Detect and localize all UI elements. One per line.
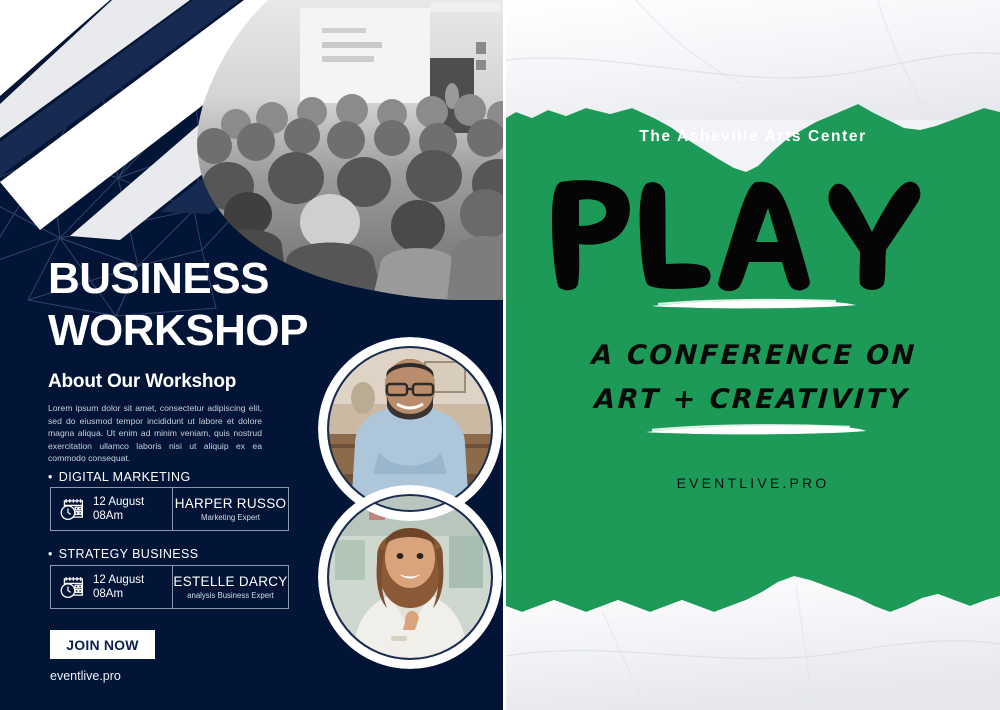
session-1-speaker: HARPER RUSSO Marketing Expert xyxy=(173,488,288,530)
subtitle-line-1: A CONFERENCE ON xyxy=(506,334,1000,378)
right-website-label: EVENTLIVE.PRO xyxy=(506,475,1000,491)
session-1-time: 08Am xyxy=(93,509,144,523)
torn-paper-bottom-edge xyxy=(506,580,1000,710)
session-card-2[interactable]: 12 August 08Am ESTELLE DARCY analysis Bu… xyxy=(50,565,289,609)
brush-stroke-lower xyxy=(506,422,1000,438)
business-workshop-poster: BUSINESS WORKSHOP About Our Workshop Lor… xyxy=(0,0,503,710)
session-2-datetime: 12 August 08Am xyxy=(51,566,173,608)
title-line-2: WORKSHOP xyxy=(48,305,378,357)
speaker-name-1: HARPER RUSSO xyxy=(175,496,287,511)
session-2-date: 12 August xyxy=(93,573,144,587)
session-1-date: 12 August xyxy=(93,495,144,509)
left-website-label: eventlive.pro xyxy=(50,669,121,683)
brush-stroke-upper xyxy=(506,296,1000,312)
session-1-datetime: 12 August 08Am xyxy=(51,488,173,530)
play-conference-poster: The Asheville Arts Center A CONFERENCE O… xyxy=(506,0,1000,710)
organization-name: The Asheville Arts Center xyxy=(506,128,1000,146)
about-body-text: Lorem ipsum dolor sit amet, consectetur … xyxy=(48,402,262,465)
session-2-time: 08Am xyxy=(93,587,144,601)
portrait-2-ring xyxy=(318,485,502,669)
torn-paper-top-edge xyxy=(506,0,1000,120)
conference-subtitle: A CONFERENCE ON ART + CREATIVITY xyxy=(506,334,1000,422)
poster-pair-canvas: BUSINESS WORKSHOP About Our Workshop Lor… xyxy=(0,0,1000,710)
title-line-1: BUSINESS xyxy=(48,253,378,305)
subtitle-line-2: ART + CREATIVITY xyxy=(506,378,1000,422)
session-label-digital-marketing: DIGITAL MARKETING xyxy=(48,470,191,484)
calendar-clock-icon xyxy=(59,496,86,522)
session-card-1[interactable]: 12 August 08Am HARPER RUSSO Marketing Ex… xyxy=(50,487,289,531)
page-title: BUSINESS WORKSHOP xyxy=(48,253,378,357)
session-2-speaker: ESTELLE DARCY analysis Business Expert xyxy=(173,566,288,608)
speaker-name-2: ESTELLE DARCY xyxy=(173,574,287,589)
session-label-strategy-business: STRATEGY BUSINESS xyxy=(48,547,199,561)
speaker-role-2: analysis Business Expert xyxy=(187,591,274,600)
about-heading: About Our Workshop xyxy=(48,371,236,393)
speaker-role-1: Marketing Expert xyxy=(201,513,260,522)
join-now-button[interactable]: JOIN NOW xyxy=(50,630,155,659)
play-headline xyxy=(506,170,1000,300)
speaker-portrait-2 xyxy=(318,485,502,669)
calendar-clock-icon xyxy=(59,574,86,600)
